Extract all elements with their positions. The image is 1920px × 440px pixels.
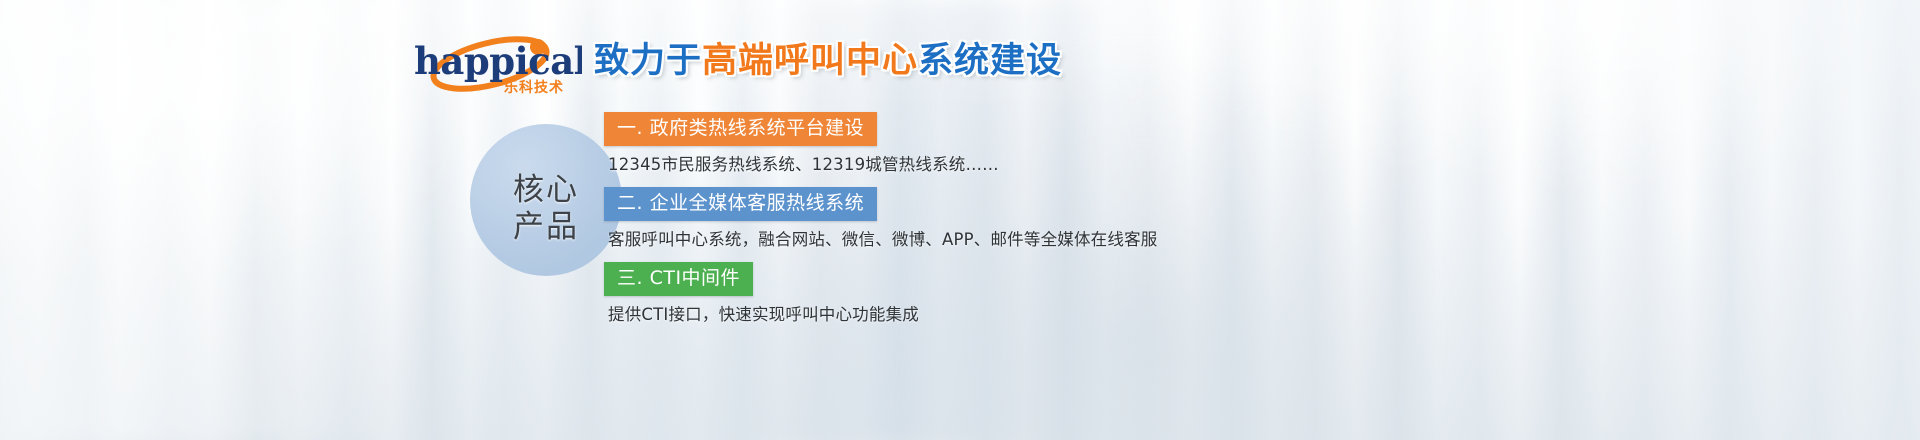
banner-headline: 致力于高端呼叫中心系统建设 <box>594 40 1062 82</box>
product-item-3: 三. CTI中间件 提供CTI接口，快速实现呼叫中心功能集成 <box>604 262 1304 326</box>
product-item-1-description: 12345市民服务热线系统、12319城管热线系统…… <box>604 154 1304 176</box>
product-item-3-description: 提供CTI接口，快速实现呼叫中心功能集成 <box>604 304 1304 326</box>
product-item-1-title[interactable]: 一. 政府类热线系统平台建设 <box>604 112 877 146</box>
promo-banner: 核心 产品 happicall 乐科技术 致力于高端呼叫中心系统建设 一. 政府… <box>0 0 1920 440</box>
logo-wordmark: happicall <box>414 39 582 83</box>
product-item-2-description: 客服呼叫中心系统，融合网站、微信、微博、APP、邮件等全媒体在线客服 <box>604 229 1304 251</box>
product-item-2-title[interactable]: 二. 企业全媒体客服热线系统 <box>604 187 877 221</box>
company-logo[interactable]: happicall 乐科技术 <box>412 34 582 96</box>
product-list: 一. 政府类热线系统平台建设 12345市民服务热线系统、12319城管热线系统… <box>604 112 1304 337</box>
core-products-label-line1: 核心 <box>470 172 622 209</box>
headline-part-3: 系统建设 <box>918 41 1062 81</box>
product-item-1: 一. 政府类热线系统平台建设 12345市民服务热线系统、12319城管热线系统… <box>604 112 1304 176</box>
core-products-label-line2: 产品 <box>470 209 622 246</box>
product-item-3-title[interactable]: 三. CTI中间件 <box>604 262 753 296</box>
product-item-2: 二. 企业全媒体客服热线系统 客服呼叫中心系统，融合网站、微信、微博、APP、邮… <box>604 187 1304 251</box>
headline-part-2: 高端呼叫中心 <box>702 41 918 81</box>
logo-graphic: happicall 乐科技术 <box>412 34 582 96</box>
logo-chinese-name: 乐科技术 <box>504 79 564 96</box>
headline-part-1: 致力于 <box>594 41 702 81</box>
core-products-label: 核心 产品 <box>470 172 622 246</box>
